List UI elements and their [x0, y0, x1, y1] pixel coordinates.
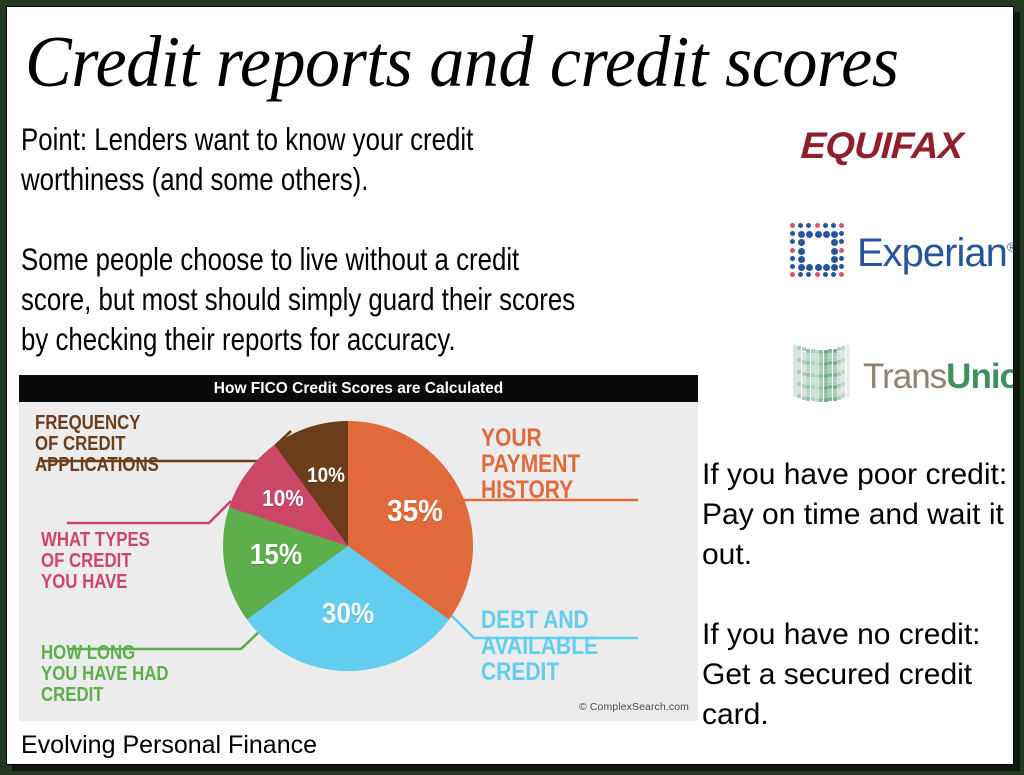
advice-spacer: [702, 575, 1012, 615]
pie-slice-value-3: 15%: [236, 539, 317, 572]
advice-text-block: If you have poor credit: Pay on time and…: [702, 455, 1012, 735]
callout-label-debt-and: DEBT AND AVAILABLE CREDIT: [481, 607, 598, 685]
paragraph-spacer: [21, 199, 624, 239]
body-paragraph-2: Some people choose to live without a cre…: [21, 239, 624, 359]
experian-dot-matrix-icon: [790, 223, 848, 281]
advice-paragraph-2: If you have no credit: Get a secured cre…: [702, 615, 1012, 735]
transunion-logo: TransUnion®: [793, 347, 1014, 403]
callout-label-what-types: WHAT TYPES OF CREDIT YOU HAVE: [41, 530, 150, 593]
experian-logo: Experian®: [790, 223, 1014, 281]
pie-slice-value-4: 10%: [243, 485, 324, 512]
infographic-credit: © ComplexSearch.com: [579, 701, 689, 713]
slide-canvas: Credit reports and credit scores Point: …: [6, 6, 1014, 765]
pie-slice-value-2: 30%: [308, 598, 389, 631]
transunion-wordmark: TransUnion®: [863, 357, 1014, 397]
callout-label-how-long: HOW LONG YOU HAVE HAD CREDIT: [41, 643, 169, 706]
slide-footer: Evolving Personal Finance: [21, 731, 317, 760]
credit-bureau-logos: EQUIFAX Experian® TransUnion®: [787, 115, 1014, 415]
transunion-wave-icon: [793, 347, 855, 403]
slide-border: Credit reports and credit scores Point: …: [0, 0, 1024, 775]
equifax-logo: EQUIFAX: [800, 125, 964, 167]
experian-wordmark: Experian®: [857, 231, 1014, 276]
callout-label-frequency: FREQUENCY OF CREDIT APPLICATIONS: [35, 413, 159, 476]
body-paragraph-1: Point: Lenders want to know your credit …: [21, 119, 624, 199]
pie-slice-value-1: 35%: [374, 493, 455, 529]
body-text-block: Point: Lenders want to know your credit …: [21, 119, 624, 359]
pie-slice-value-5: 10%: [285, 464, 366, 488]
fico-infographic: How FICO Credit Scores are Calculated 35…: [19, 375, 698, 721]
page-title: Credit reports and credit scores: [25, 19, 961, 105]
callout-label-your: YOUR PAYMENT HISTORY: [481, 425, 580, 503]
advice-paragraph-1: If you have poor credit: Pay on time and…: [702, 455, 1012, 575]
